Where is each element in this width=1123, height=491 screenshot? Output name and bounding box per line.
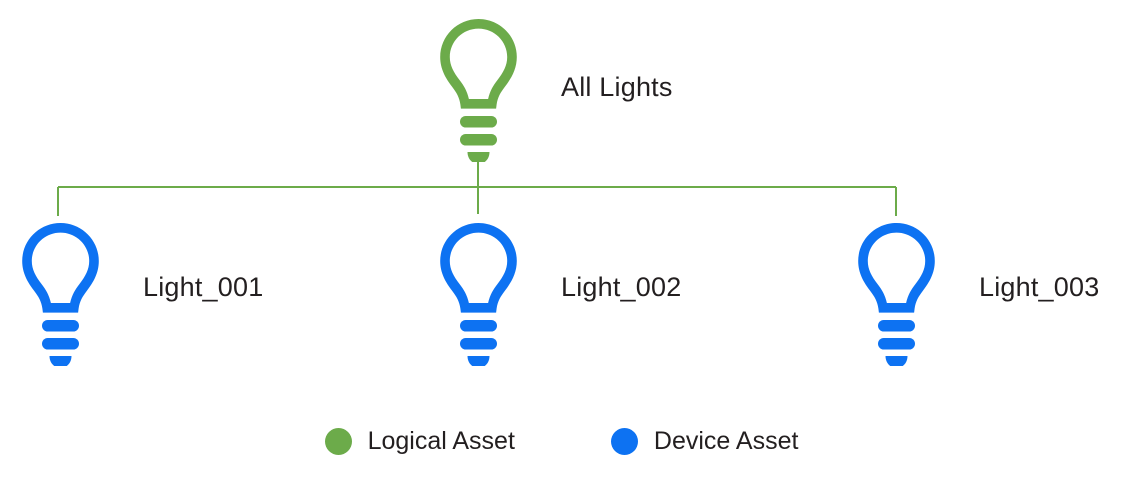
lightbulb-icon[interactable] <box>19 221 102 366</box>
node-child-label: Light_003 <box>979 274 1099 301</box>
node-root-label: All Lights <box>561 74 673 101</box>
legend-dot-blue-circle-icon <box>611 428 638 455</box>
lightbulb-icon[interactable] <box>437 221 520 366</box>
lightbulb-icon[interactable] <box>855 221 938 366</box>
legend-label: Device Asset <box>654 429 799 454</box>
node-child-label: Light_002 <box>561 274 681 301</box>
lightbulb-icon[interactable] <box>437 17 520 162</box>
legend-dot-green-circle-icon <box>325 428 352 455</box>
diagram-canvas: All Lights Light_001 Light_002 <box>0 0 1123 491</box>
legend: Logical Asset Device Asset <box>0 428 1123 455</box>
legend-item-device-asset: Device Asset <box>611 428 799 455</box>
legend-item-logical-asset: Logical Asset <box>325 428 515 455</box>
legend-label: Logical Asset <box>368 429 515 454</box>
node-child-label: Light_001 <box>143 274 263 301</box>
